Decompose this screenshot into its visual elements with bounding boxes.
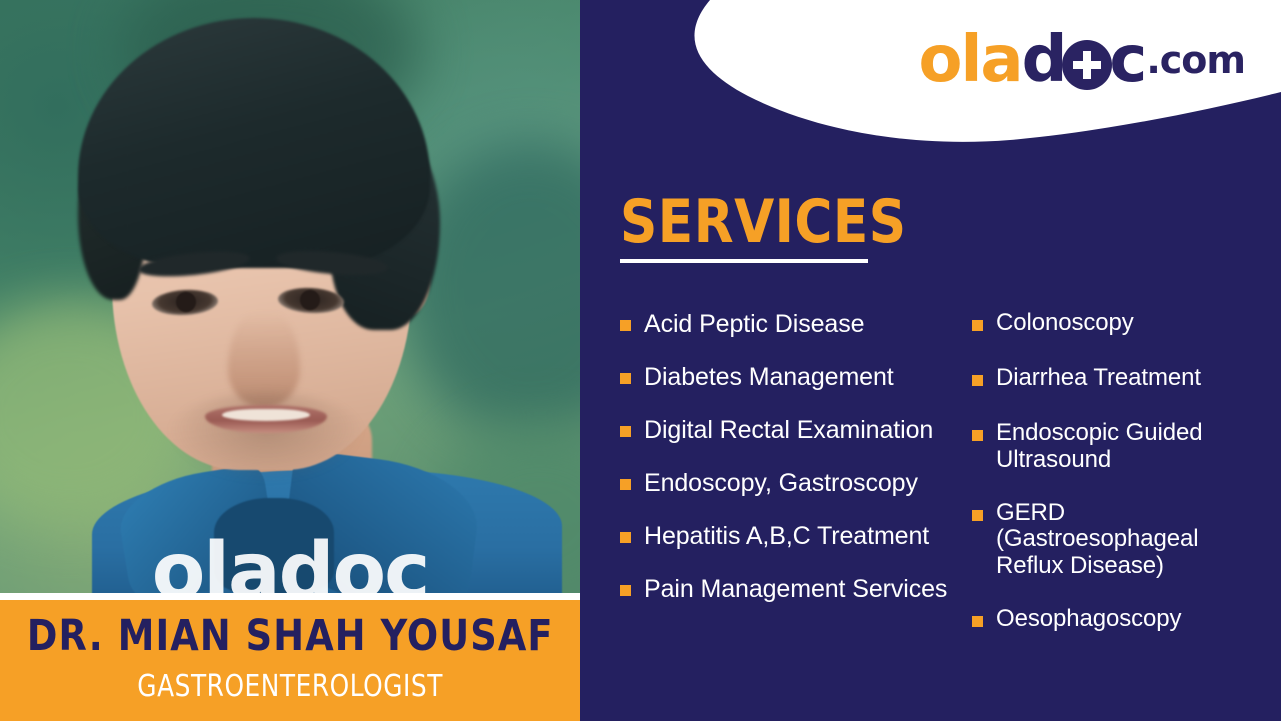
service-label: Endoscopy, Gastroscopy	[644, 469, 918, 497]
bullet-square-icon	[620, 373, 631, 384]
services-heading: SERVICES	[620, 192, 907, 252]
doctor-photo-column: oladoc DR. MIAN SHAH YOUSAF GASTROENTERO…	[0, 0, 580, 721]
service-item[interactable]: Endoscopy, Gastroscopy	[620, 469, 972, 497]
service-item[interactable]: Diabetes Management	[620, 363, 972, 391]
service-item[interactable]: Acid Peptic Disease	[620, 310, 972, 338]
service-item[interactable]: Diarrhea Treatment	[972, 365, 1260, 392]
bullet-square-icon	[620, 479, 631, 490]
service-label: Acid Peptic Disease	[644, 310, 864, 338]
bullet-square-icon	[972, 375, 983, 386]
logo-text-d: d	[1022, 28, 1066, 92]
service-label: Endoscopic Guided Ultrasound	[996, 420, 1260, 474]
bullet-square-icon	[972, 510, 983, 521]
portrait-pupil-right	[300, 290, 320, 310]
logo-text-com: .com	[1146, 41, 1245, 79]
service-item[interactable]: Oesophagoscopy	[972, 606, 1260, 633]
service-label: Oesophagoscopy	[996, 606, 1181, 633]
services-heading-underline	[620, 259, 868, 263]
services-column-right: Colonoscopy Diarrhea Treatment Endoscopi…	[972, 310, 1260, 661]
logo-text-ola: ola	[918, 28, 1021, 92]
doctor-photo: oladoc	[0, 0, 580, 597]
doctor-specialty: GASTROENTEROLOGIST	[137, 672, 443, 702]
bullet-square-icon	[620, 426, 631, 437]
portrait-collar-inner	[214, 498, 334, 594]
portrait-hair	[78, 18, 430, 268]
services-column-left: Acid Peptic Disease Diabetes Management …	[620, 310, 972, 661]
logo-text-c: c	[1109, 28, 1145, 92]
portrait-teeth	[222, 409, 310, 421]
service-item[interactable]: GERD (Gastroesophageal Reflux Disease)	[972, 500, 1260, 581]
service-item[interactable]: Hepatitis A,B,C Treatment	[620, 522, 972, 550]
doctor-profile-card: oladoc DR. MIAN SHAH YOUSAF GASTROENTERO…	[0, 0, 1281, 721]
bullet-square-icon	[620, 320, 631, 331]
bullet-square-icon	[972, 616, 983, 627]
doctor-name-banner: DR. MIAN SHAH YOUSAF GASTROENTEROLOGIST	[0, 600, 580, 721]
services-list: Acid Peptic Disease Diabetes Management …	[620, 310, 1260, 661]
o-with-plus-icon	[1062, 40, 1112, 90]
bullet-square-icon	[972, 320, 983, 331]
bullet-square-icon	[620, 585, 631, 596]
portrait-pupil-left	[176, 292, 196, 312]
service-item[interactable]: Endoscopic Guided Ultrasound	[972, 420, 1260, 474]
photo-banner-divider	[0, 593, 580, 600]
oladoc-logo[interactable]: ola d c .com	[918, 28, 1245, 92]
plus-horizontal-bar	[1073, 61, 1101, 69]
service-item[interactable]: Colonoscopy	[972, 310, 1260, 337]
service-label: Colonoscopy	[996, 310, 1134, 337]
service-label: Digital Rectal Examination	[644, 416, 933, 444]
doctor-name: DR. MIAN SHAH YOUSAF	[27, 615, 554, 658]
bullet-square-icon	[972, 430, 983, 441]
services-panel: ola d c .com SERVICES Acid Peptic Diseas…	[580, 0, 1281, 721]
bullet-square-icon	[620, 532, 631, 543]
service-label: Diarrhea Treatment	[996, 365, 1201, 392]
service-label: Pain Management Services	[644, 575, 947, 603]
service-label: Diabetes Management	[644, 363, 894, 391]
service-item[interactable]: Pain Management Services	[620, 575, 972, 603]
service-label: Hepatitis A,B,C Treatment	[644, 522, 929, 550]
service-label: GERD (Gastroesophageal Reflux Disease)	[996, 500, 1260, 581]
portrait-illustration	[0, 0, 580, 597]
service-item[interactable]: Digital Rectal Examination	[620, 416, 972, 444]
